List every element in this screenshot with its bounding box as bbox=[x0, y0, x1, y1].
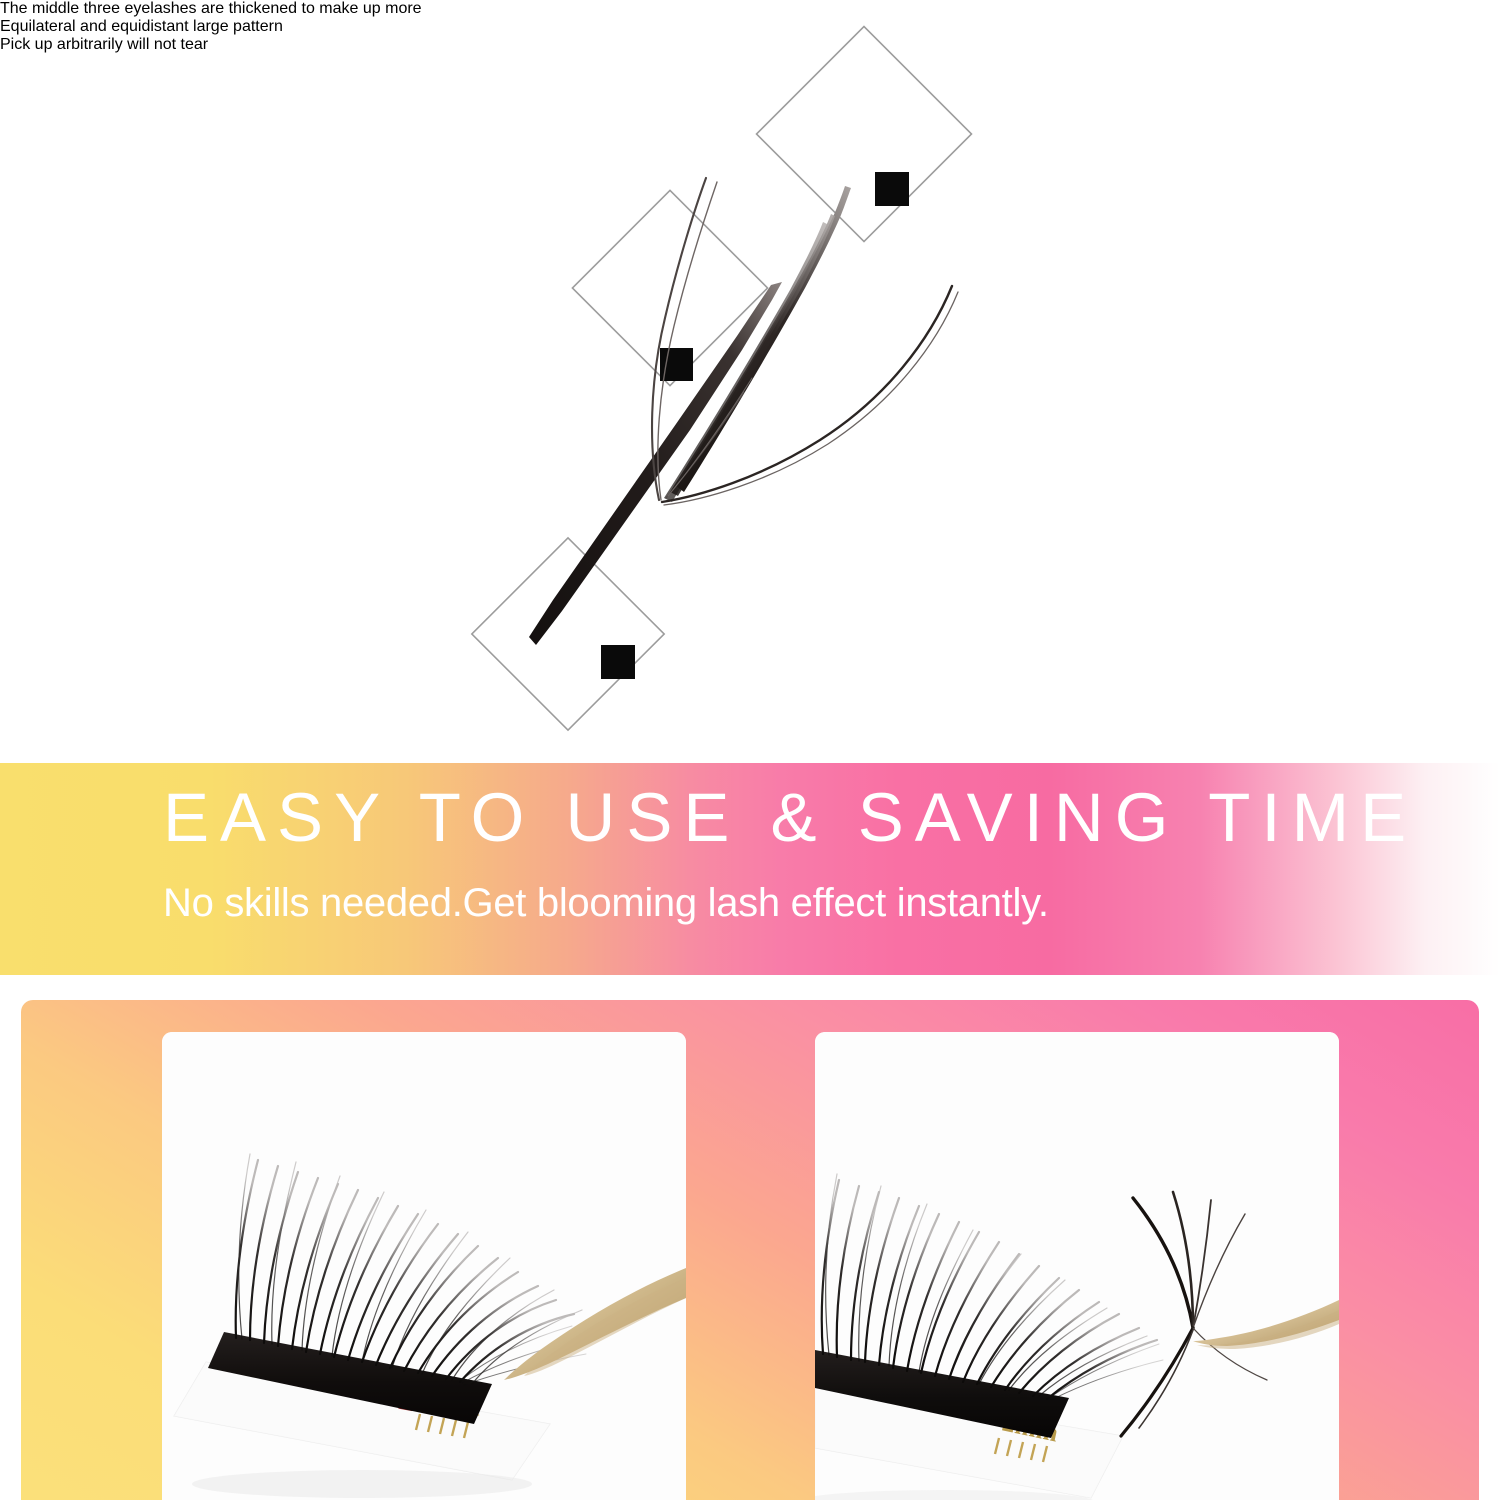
photo-lash-tray-with-tweezers: 2mm bbox=[162, 1032, 686, 1500]
feature-diagram-section: The middle three eyelashes are thickened… bbox=[0, 0, 1500, 763]
lash-base-stem bbox=[529, 282, 782, 645]
photo-card-lash-tray-with-tweezers: 2mm bbox=[162, 1032, 686, 1500]
callout-marker-equilateral-icon bbox=[572, 190, 767, 385]
callout-marker-middle-three-icon bbox=[757, 27, 972, 242]
promo-banner-title: EASY TO USE & SAVING TIME bbox=[163, 783, 1417, 852]
eyelash-fan-illustration bbox=[0, 0, 1500, 763]
photo-lash-fan-lifted: 2mm bbox=[815, 1032, 1339, 1500]
promo-banner-subtitle: No skills needed.Get blooming lash effec… bbox=[163, 883, 1049, 923]
tray-shadow bbox=[192, 1470, 532, 1498]
photo-card-lash-fan-lifted: 2mm bbox=[815, 1032, 1339, 1500]
callout-marker-pick-up-icon bbox=[472, 538, 664, 730]
product-photo-panel: 2mm bbox=[21, 1000, 1479, 1500]
promo-banner: EASY TO USE & SAVING TIME No skills need… bbox=[0, 763, 1500, 975]
